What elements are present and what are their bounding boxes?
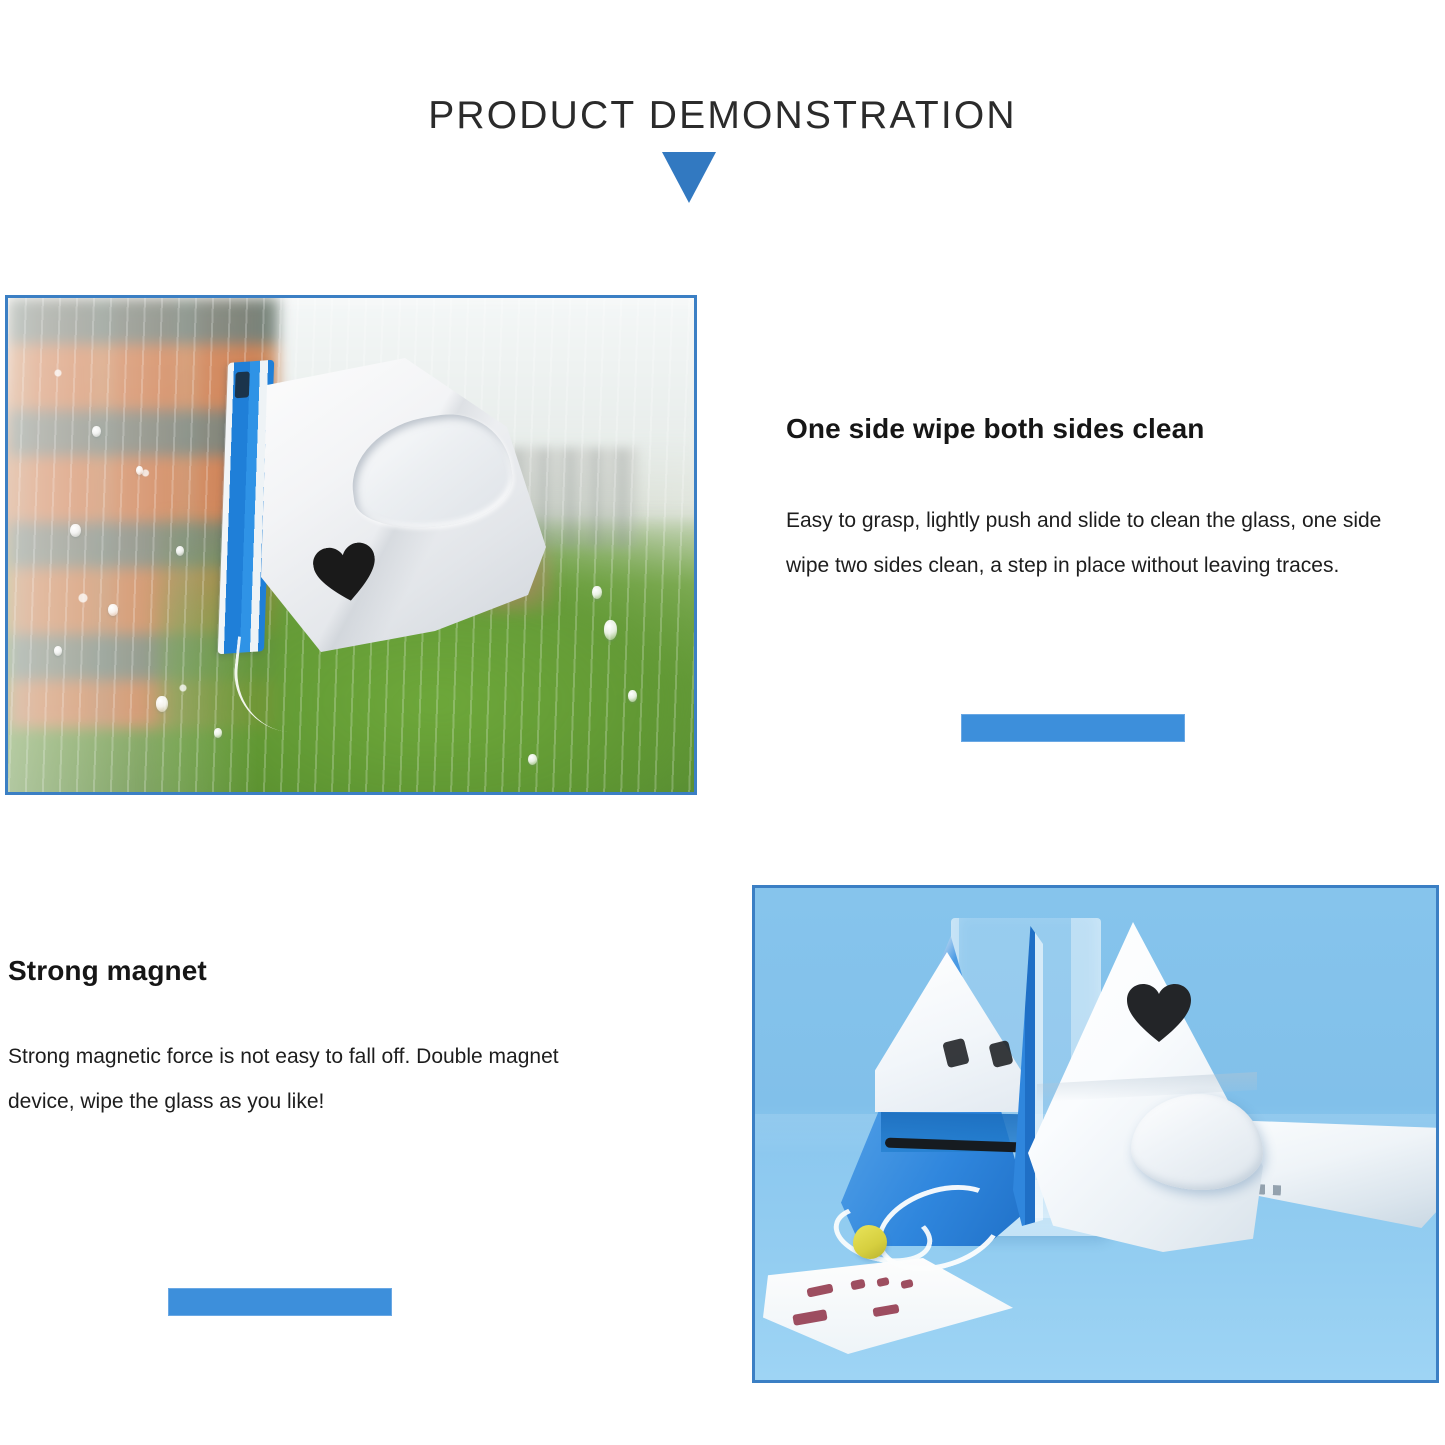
water-droplet [604,620,617,640]
water-droplet [592,586,602,599]
window-cleaner-device [223,355,553,655]
page-title: PRODUCT DEMONSTRATION [0,94,1445,138]
photo-pair-inner [755,888,1436,1380]
water-droplet [136,466,143,475]
water-droplet [92,426,101,437]
triangle-down-icon [662,152,716,203]
water-droplet [528,754,537,765]
cleaner-left-marking [988,1040,1013,1068]
feature-heading-one-side-wipe: One side wipe both sides clean [786,413,1204,445]
water-droplet [156,696,168,712]
feature-body-strong-magnet: Strong magnetic force is not easy to fal… [8,1034,628,1124]
feature-body-one-side-wipe: Easy to grasp, lightly push and slide to… [786,498,1426,588]
feature-image-strong-magnet [752,885,1439,1383]
water-droplet [70,524,81,537]
feature-image-one-side-wipe [5,295,697,795]
cleaner-left-face [875,952,1025,1112]
water-droplet [214,728,222,738]
photo-window-inner [8,298,694,792]
feature-heading-strong-magnet: Strong magnet [8,955,207,987]
water-droplet [108,604,118,616]
accent-bar-strong-magnet [168,1288,392,1316]
accent-bar-one-side-wipe [961,714,1185,742]
water-droplet [176,546,184,556]
water-droplet [628,690,637,702]
water-droplet [54,646,62,656]
product-demonstration-page: PRODUCT DEMONSTRATION [0,0,1445,1445]
cleaner-half-right [1023,922,1273,1252]
yellow-cord-clip [853,1225,887,1259]
